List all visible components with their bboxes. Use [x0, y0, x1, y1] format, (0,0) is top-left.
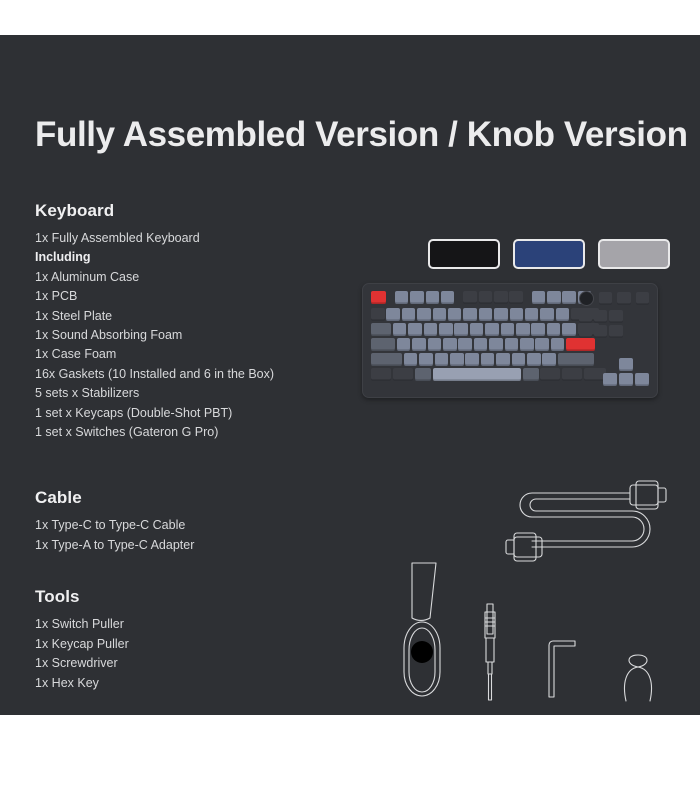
type-c-cable-illustration: [492, 475, 668, 573]
keychron-keyboard-image: [362, 283, 658, 398]
key-9: [510, 308, 524, 321]
key-home: [594, 310, 608, 323]
key-tab: [371, 323, 391, 336]
key-arrow-right: [635, 373, 649, 386]
key-f3: [426, 291, 440, 304]
key-3: [417, 308, 431, 321]
key-control-left: [371, 368, 391, 381]
list-item: 1x Case Foam: [35, 345, 365, 364]
key-delete: [579, 325, 593, 338]
list-item: 1x Aluminum Case: [35, 268, 365, 287]
list-item: 1x PCB: [35, 287, 365, 306]
key-v: [450, 353, 464, 366]
key-lock: [636, 292, 650, 305]
keycap-puller-illustration: [620, 653, 656, 703]
keyboard-row-numbers: [371, 308, 606, 321]
product-contents-panel: Fully Assembled Version / Knob Version K…: [0, 35, 700, 715]
keyboard-knob-row: [579, 291, 650, 306]
key-p: [531, 323, 545, 336]
list-item: 1 set x Keycaps (Double-Shot PBT): [35, 404, 365, 423]
section-tools: Tools 1x Switch Puller 1x Keycap Puller …: [35, 587, 365, 693]
key-siri: [617, 292, 631, 305]
key-e: [424, 323, 438, 336]
key-fn: [562, 368, 582, 381]
keyboard-main-block: [371, 291, 606, 382]
key-6: [463, 308, 477, 321]
key-8: [494, 308, 508, 321]
key-spacebar: [433, 368, 521, 381]
page-title: Fully Assembled Version / Knob Version: [35, 115, 688, 155]
color-swatch-gray[interactable]: [598, 239, 670, 269]
hex-key-illustration: [545, 635, 579, 699]
key-4: [433, 308, 447, 321]
color-swatch-navy-blue[interactable]: [513, 239, 585, 269]
key-j: [489, 338, 503, 351]
section-cable: Cable 1x Type-C to Type-C Cable 1x Type-…: [35, 488, 365, 555]
key-f6: [479, 291, 493, 304]
list-item: 1x Steel Plate: [35, 307, 365, 326]
list-item: 1x Sound Absorbing Foam: [35, 326, 365, 345]
key-end: [594, 325, 608, 338]
list-item: 1x Screwdriver: [35, 654, 365, 673]
key-q: [393, 323, 407, 336]
key-arrow-down: [619, 373, 633, 386]
key-l: [520, 338, 534, 351]
key-f: [443, 338, 457, 351]
key-option-left: [393, 368, 413, 381]
keyboard-row-caps: [371, 338, 606, 351]
list-item: 1x Type-A to Type-C Adapter: [35, 536, 365, 555]
key-arrow-left: [603, 373, 617, 386]
key-a: [397, 338, 411, 351]
key-command-left: [415, 368, 431, 381]
list-item: 1x Switch Puller: [35, 615, 365, 634]
key-s: [412, 338, 426, 351]
key-arrow-up: [619, 358, 633, 371]
key-g: [458, 338, 472, 351]
key-t: [454, 323, 468, 336]
key-7: [479, 308, 493, 321]
keyboard-row-bottom: [371, 368, 606, 381]
section-keyboard: Keyboard 1x Fully Assembled Keyboard Inc…: [35, 201, 365, 442]
key-c: [435, 353, 449, 366]
key-f4: [441, 291, 455, 304]
key-n: [481, 353, 495, 366]
list-item: 5 sets x Stabilizers: [35, 384, 365, 403]
key-equal: [556, 308, 570, 321]
section-heading-tools: Tools: [35, 587, 365, 607]
key-f9: [532, 291, 546, 304]
keyboard-arrow-cluster: [603, 358, 649, 388]
key-x: [419, 353, 433, 366]
keyboard-row-function: [371, 291, 606, 304]
key-o: [516, 323, 530, 336]
keyboard-row-tab: [371, 323, 606, 336]
key-w: [408, 323, 422, 336]
section-heading-cable: Cable: [35, 488, 365, 508]
list-item: 1 set x Switches (Gateron G Pro): [35, 423, 365, 442]
key-snapshot: [599, 292, 613, 305]
key-esc: [371, 291, 386, 304]
key-b: [465, 353, 479, 366]
key-quote: [551, 338, 565, 351]
key-f1: [395, 291, 409, 304]
key-semicolon: [535, 338, 549, 351]
key-5: [448, 308, 462, 321]
keyboard-nav-row-2: [579, 325, 650, 338]
key-f8: [509, 291, 523, 304]
key-page-up: [609, 310, 623, 323]
key-shift-left: [371, 353, 402, 366]
list-item: Including: [35, 248, 365, 267]
list-item: 1x Type-C to Type-C Cable: [35, 516, 365, 535]
key-bracket-left: [547, 323, 561, 336]
key-f7: [494, 291, 508, 304]
key-f2: [410, 291, 424, 304]
key-f11: [562, 291, 576, 304]
key-i: [501, 323, 515, 336]
contents-list-column: Keyboard 1x Fully Assembled Keyboard Inc…: [35, 201, 365, 693]
key-bracket-right: [562, 323, 576, 336]
section-heading-keyboard: Keyboard: [35, 201, 365, 221]
key-slash: [542, 353, 556, 366]
key-z: [404, 353, 418, 366]
key-option-right: [540, 368, 560, 381]
key-2: [402, 308, 416, 321]
key-u: [485, 323, 499, 336]
screwdriver-illustration: [478, 600, 502, 706]
key-minus: [540, 308, 554, 321]
list-item: 1x Keycap Puller: [35, 635, 365, 654]
keyboard-row-shift: [371, 353, 606, 366]
keyboard-nav-cluster: [579, 291, 650, 340]
key-command-right: [523, 368, 539, 381]
key-period: [527, 353, 541, 366]
key-shift-right: [558, 353, 594, 366]
key-caps-lock: [371, 338, 395, 351]
key-f10: [547, 291, 561, 304]
key-k: [505, 338, 519, 351]
key-page-down: [609, 325, 623, 338]
switch-puller-illustration: [392, 560, 452, 698]
key-insert: [579, 310, 593, 323]
rotary-knob: [579, 291, 594, 306]
key-comma: [512, 353, 526, 366]
key-y: [470, 323, 484, 336]
keyboard-nav-row-1: [579, 310, 650, 323]
list-item: 1x Hex Key: [35, 674, 365, 693]
color-swatch-black[interactable]: [428, 239, 500, 269]
key-d: [428, 338, 442, 351]
color-swatch-group: [428, 239, 670, 269]
list-item: 1x Fully Assembled Keyboard: [35, 229, 365, 248]
key-m: [496, 353, 510, 366]
key-tilde: [371, 308, 385, 321]
key-1: [386, 308, 400, 321]
key-r: [439, 323, 453, 336]
key-h: [474, 338, 488, 351]
key-0: [525, 308, 539, 321]
list-item: 16x Gaskets (10 Installed and 6 in the B…: [35, 365, 365, 384]
key-f5: [463, 291, 477, 304]
